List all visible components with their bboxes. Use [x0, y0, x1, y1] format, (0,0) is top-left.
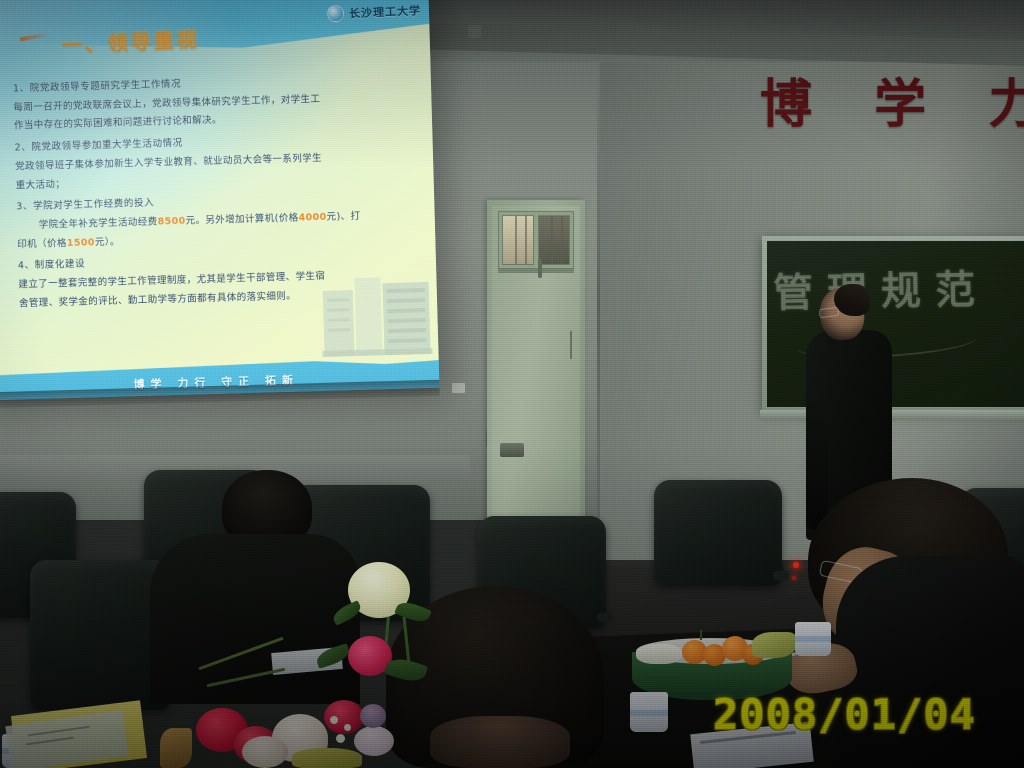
wall-corner-seam [597, 55, 600, 555]
university-seal-icon [327, 5, 345, 23]
university-name: 长沙理工大学 [349, 2, 422, 21]
paper-cup-center[interactable] [630, 692, 668, 732]
slide-line-9-pre: 印机（价格 [17, 238, 67, 250]
door-pane-right [538, 215, 570, 265]
slide-amount-1500: 1500 [67, 237, 95, 249]
wall-vent-icon [468, 25, 481, 38]
device-led-secondary [792, 576, 796, 580]
banana-platter [752, 632, 796, 658]
slide-line-9-post: 元）。 [95, 236, 120, 248]
paper-cup-right[interactable] [795, 622, 831, 656]
presenter-arm [806, 400, 828, 530]
attendee-back-torso [150, 534, 360, 704]
camera-date-stamp: 2008/01/04 [713, 690, 976, 739]
door-handle-icon[interactable] [500, 443, 524, 457]
blackboard-chalk-ledge [760, 410, 1024, 420]
presenter-hair [834, 284, 870, 316]
blackboard-chalk-text: 管理规范 [773, 257, 990, 319]
photograph-canvas: 长沙理工大学 一、领导重视 1、院党政领导专题研究学生工作情况 每周一召开的党政… [0, 0, 1024, 768]
light-switch[interactable] [452, 383, 465, 393]
babys-breath-1 [330, 716, 338, 724]
door-transom-rail [498, 269, 574, 273]
slide-title: 一、领导重视 [61, 23, 200, 58]
floral-wrap [160, 728, 192, 768]
classroom-door[interactable] [492, 206, 580, 525]
wall-motto-text: 博 学 力 行 [760, 62, 1024, 137]
white-lily-3 [354, 726, 394, 756]
chair-back-5[interactable] [654, 480, 782, 586]
purple-bud [360, 704, 386, 728]
slide-line-8-pre: 学院全年补充学生活动经费 [39, 217, 158, 231]
slide-amount-4000: 4000 [298, 212, 326, 224]
device-led-indicator [793, 562, 799, 568]
chair-front-1[interactable] [30, 560, 170, 710]
slide-line-8-post: 元)、打 [326, 211, 360, 223]
babys-breath-3 [336, 734, 345, 743]
platter-pastry [636, 644, 682, 664]
door-pane-left [502, 215, 534, 265]
blackboard-frame: 管理规范 [762, 236, 1024, 412]
campus-building-watermark [320, 268, 432, 357]
transom-handle-icon[interactable] [538, 258, 542, 278]
orange-stem [700, 630, 702, 640]
slide-amount-8500: 8500 [157, 216, 185, 228]
babys-breath-2 [344, 724, 351, 731]
banana-near [292, 748, 362, 768]
door-edge-line [570, 331, 572, 359]
door-transom-window [498, 211, 574, 269]
projection-screen: 长沙理工大学 一、领导重视 1、院党政领导专题研究学生工作情况 每周一召开的党政… [0, 0, 439, 400]
foreground-head-skin [430, 716, 570, 768]
door-frame [487, 200, 585, 525]
white-lily-2 [242, 736, 288, 768]
slide-line-8-mid: 元。另外增加计算机(价格 [185, 213, 298, 227]
presentation-slide: 长沙理工大学 一、领导重视 1、院党政领导专题研究学生工作情况 每周一召开的党政… [0, 0, 439, 400]
